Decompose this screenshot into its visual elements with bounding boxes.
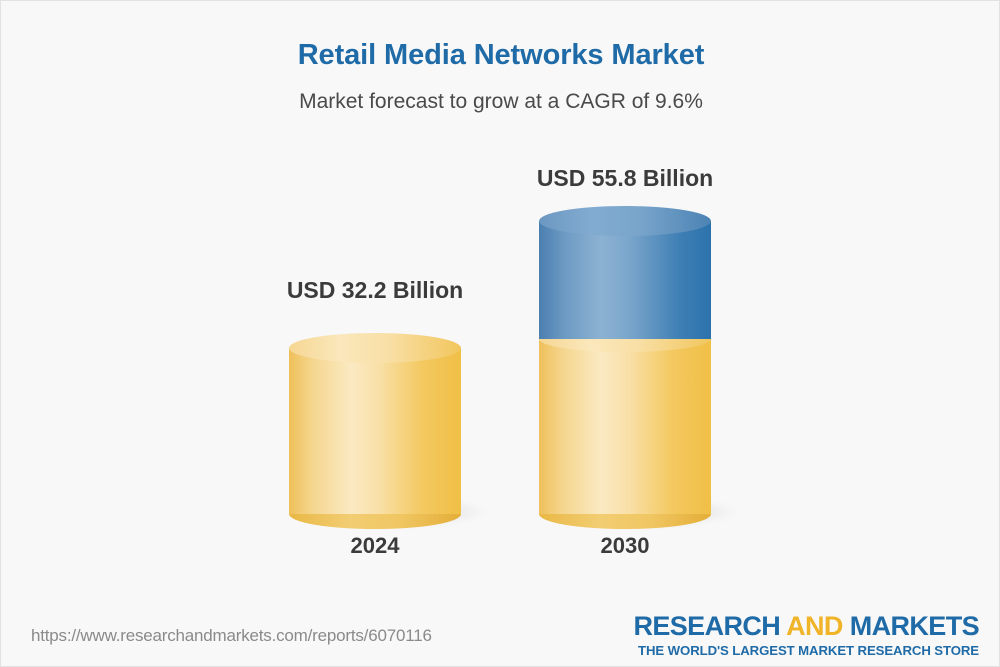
bar-2030 <box>539 206 711 529</box>
brand-wordmark: RESEARCH AND MARKETS <box>633 612 979 640</box>
bar-2024-body <box>289 348 461 514</box>
value-label-2024: USD 32.2 Billion <box>255 277 495 304</box>
category-label-2030: 2030 <box>505 533 745 559</box>
value-label-2030: USD 55.8 Billion <box>505 165 745 192</box>
bar-2030-segment-yellow <box>539 333 711 514</box>
brand-word-and: AND <box>786 611 843 641</box>
brand-tagline: THE WORLD'S LARGEST MARKET RESEARCH STOR… <box>633 643 979 658</box>
bar-2024-top-cap <box>289 333 461 363</box>
footer: https://www.researchandmarkets.com/repor… <box>1 604 1000 666</box>
bar-2024 <box>289 333 461 529</box>
brand-logo: RESEARCH AND MARKETS THE WORLD'S LARGEST… <box>633 612 979 658</box>
report-url[interactable]: https://www.researchandmarkets.com/repor… <box>31 626 432 646</box>
category-label-2024: 2024 <box>255 533 495 559</box>
chart-plot-area: USD 32.2 Billion 2024 USD 55.8 Billion <box>1 1 1000 601</box>
bar-2030-top-cap <box>539 206 711 236</box>
chart-card: Retail Media Networks Market Market fore… <box>0 0 1000 667</box>
brand-word-markets: MARKETS <box>843 611 979 641</box>
brand-word-research: RESEARCH <box>633 611 786 641</box>
bar-2030-segment-blue <box>539 221 711 339</box>
